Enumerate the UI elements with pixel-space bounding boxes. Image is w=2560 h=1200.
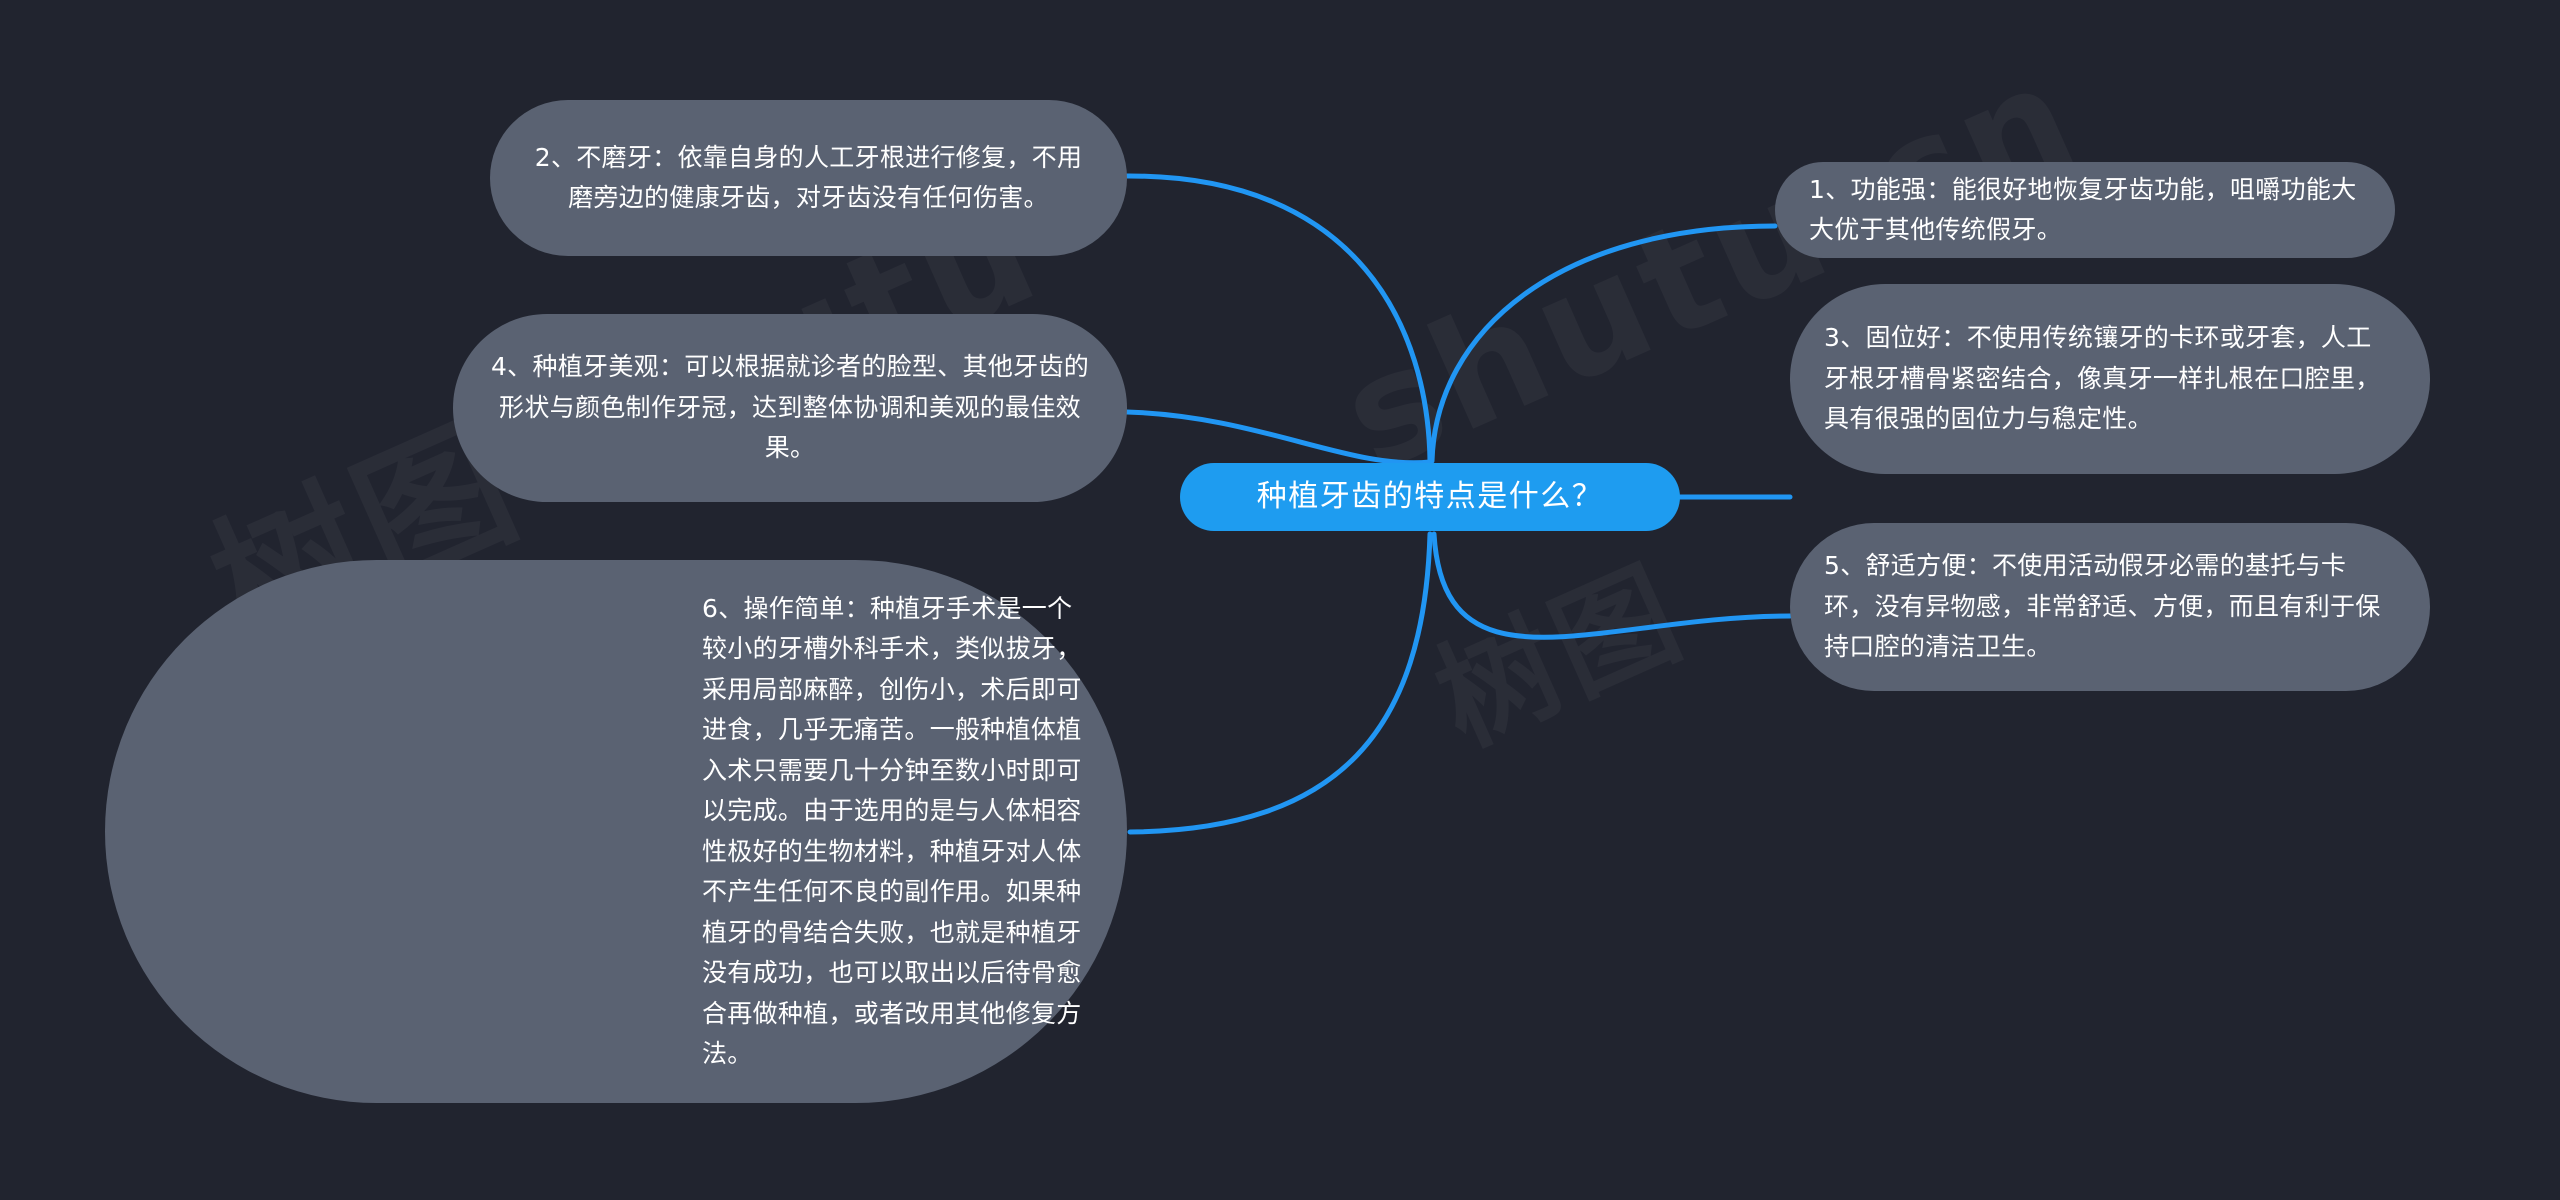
mindmap-node-5[interactable]: 5、舒适方便：不使用活动假牙必需的基托与卡环，没有异物感，非常舒适、方便，而且有…	[1790, 523, 2430, 691]
watermark-center: 树图	[1406, 516, 1707, 777]
mindmap-node-6[interactable]: 6、操作简单：种植牙手术是一个较小的牙槽外科手术，类似拔牙，采用局部麻醉，创伤小…	[105, 560, 1127, 1103]
connector-to-node-6	[1130, 534, 1430, 832]
node-4-label: 4、种植牙美观：可以根据就诊者的脸型、其他牙齿的形状与颜色制作牙冠，达到整体协调…	[487, 347, 1093, 469]
mindmap-node-4[interactable]: 4、种植牙美观：可以根据就诊者的脸型、其他牙齿的形状与颜色制作牙冠，达到整体协调…	[453, 314, 1127, 502]
mindmap-node-3[interactable]: 3、固位好：不使用传统镶牙的卡环或牙套，人工牙根牙槽骨紧密结合，像真牙一样扎根在…	[1790, 284, 2430, 474]
mindmap-node-1[interactable]: 1、功能强：能很好地恢复牙齿功能，咀嚼功能大大优于其他传统假牙。	[1775, 162, 2395, 258]
connector-to-node-1	[1432, 226, 1775, 461]
mindmap-center-node[interactable]: 种植牙齿的特点是什么？	[1180, 463, 1680, 531]
mindmap-canvas: 树图 shutu shutu.cn 树图 2、不磨牙：依靠自身的人工牙根进行修复…	[0, 0, 2560, 1200]
node-3-label: 3、固位好：不使用传统镶牙的卡环或牙套，人工牙根牙槽骨紧密结合，像真牙一样扎根在…	[1824, 318, 2396, 440]
connector-to-node-5	[1434, 534, 1790, 637]
node-2-label: 2、不磨牙：依靠自身的人工牙根进行修复，不用磨旁边的健康牙齿，对牙齿没有任何伤害…	[524, 138, 1093, 219]
node-1-label: 1、功能强：能很好地恢复牙齿功能，咀嚼功能大大优于其他传统假牙。	[1809, 170, 2361, 251]
center-node-label: 种植牙齿的特点是什么？	[1180, 473, 1680, 522]
connector-to-node-2	[1127, 176, 1430, 461]
node-5-label: 5、舒适方便：不使用活动假牙必需的基托与卡环，没有异物感，非常舒适、方便，而且有…	[1824, 546, 2396, 668]
mindmap-node-2[interactable]: 2、不磨牙：依靠自身的人工牙根进行修复，不用磨旁边的健康牙齿，对牙齿没有任何伤害…	[490, 100, 1127, 256]
connector-to-node-4	[1127, 412, 1430, 463]
node-6-label: 6、操作简单：种植牙手术是一个较小的牙槽外科手术，类似拔牙，采用局部麻醉，创伤小…	[702, 589, 1087, 1075]
